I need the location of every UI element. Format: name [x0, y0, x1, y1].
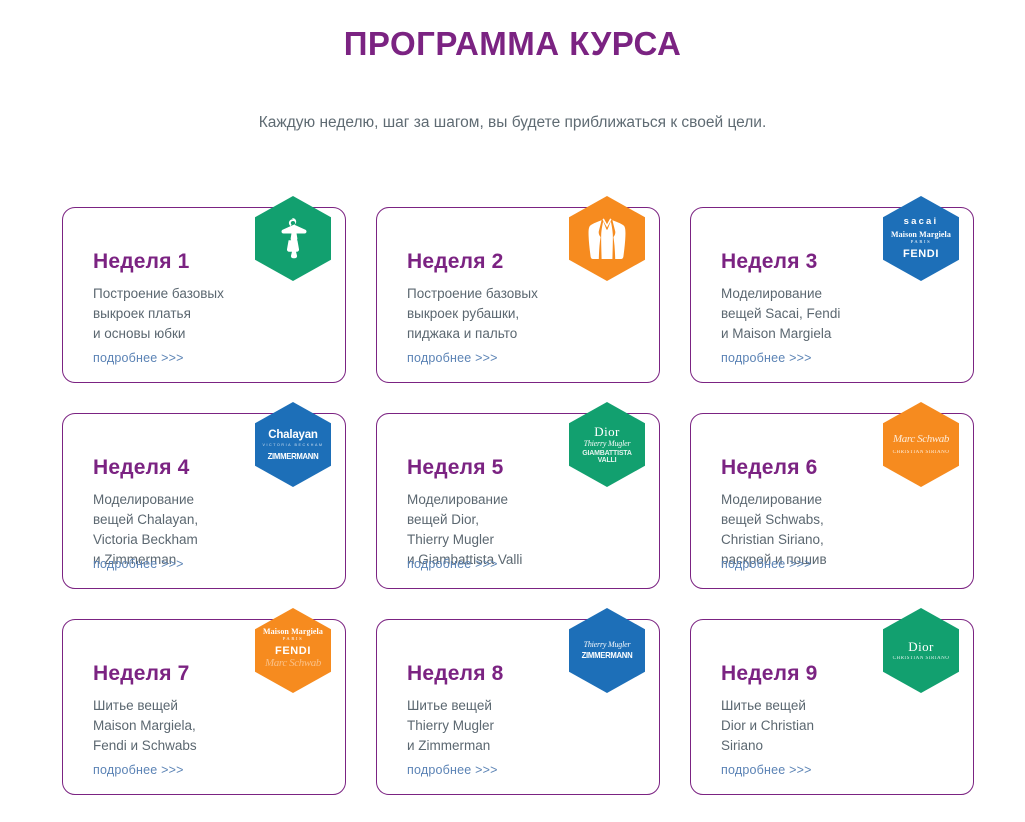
brand-fendi: FENDI: [887, 249, 955, 261]
details-link[interactable]: подробнее >>>: [407, 351, 498, 365]
brand-marc-schwab: Marc Schwab: [887, 434, 955, 446]
week-card[interactable]: Dior Thierry Mugler GIAMBATTISTA VALLI Н…: [376, 413, 660, 589]
week-description: Построение базовых выкроек платья и осно…: [93, 284, 319, 344]
brand-dior: Dior: [887, 640, 955, 654]
week-description: Построение базовых выкроек рубашки, пидж…: [407, 284, 633, 344]
details-link[interactable]: подробнее >>>: [407, 557, 498, 571]
brand-zimmermann: ZIMMERMANN: [576, 651, 639, 660]
week-card[interactable]: Неделя 2 Построение базовых выкроек руба…: [376, 207, 660, 383]
week-card[interactable]: Maison Margiela PARIS FENDI Marc Schwab …: [62, 619, 346, 795]
details-link[interactable]: подробнее >>>: [93, 557, 184, 571]
week-description: Шитье вещей Maison Margiela, Fendi и Sch…: [93, 696, 319, 756]
details-link[interactable]: подробнее >>>: [407, 763, 498, 777]
brand-maison-margiela: Maison Margiela: [887, 231, 955, 239]
brand-sacai: sacai: [887, 217, 955, 227]
details-link[interactable]: подробнее >>>: [721, 557, 812, 571]
brand-thierry-mugler: Thierry Mugler: [573, 440, 641, 448]
brand-dior: Dior: [573, 425, 641, 439]
details-link[interactable]: подробнее >>>: [721, 763, 812, 777]
week-description: Шитье вещей Dior и Christian Siriano: [721, 696, 947, 756]
details-link[interactable]: подробнее >>>: [93, 351, 184, 365]
week-card[interactable]: sacai Maison Margiela PARIS FENDI Неделя…: [690, 207, 974, 383]
dress-on-hanger-icon: [276, 217, 310, 261]
week-card[interactable]: Marc Schwab CHRISTIAN SIRIANO Неделя 6 М…: [690, 413, 974, 589]
brand-thierry-mugler: Thierry Mugler: [573, 641, 641, 649]
week-card[interactable]: Dior CHRISTIAN SIRIANO Неделя 9 Шитье ве…: [690, 619, 974, 795]
brand-paris: PARIS: [887, 240, 955, 245]
brand-marc-schwab: Marc Schwab: [259, 658, 327, 670]
brand-christian-siriano: CHRISTIAN SIRIANO: [887, 450, 955, 455]
brand-zimmermann: ZIMMERMANN: [262, 452, 325, 461]
brand-paris: PARIS: [259, 637, 327, 642]
brand-maison-margiela: Maison Margiela: [259, 628, 327, 636]
week-card[interactable]: Thierry Mugler ZIMMERMANN Неделя 8 Шитье…: [376, 619, 660, 795]
brand-giambattista-valli: GIAMBATTISTA VALLI: [573, 451, 641, 464]
week-card[interactable]: Chalayan VICTORIA BECKHAM ZIMMERMANN Нед…: [62, 413, 346, 589]
brand-chalayan: Chalayan: [259, 429, 327, 441]
week-description: Шитье вещей Thierry Mugler и Zimmerman: [407, 696, 633, 756]
week-cards-grid: Неделя 1 Построение базовых выкроек плат…: [62, 207, 982, 795]
details-link[interactable]: подробнее >>>: [93, 763, 184, 777]
blazer-jacket-icon: [586, 216, 628, 262]
brand-christian-siriano: CHRISTIAN SIRIANO: [887, 656, 955, 661]
page-subtitle: Каждую неделю, шаг за шагом, вы будете п…: [0, 64, 1025, 134]
details-link[interactable]: подробнее >>>: [721, 351, 812, 365]
page-title: ПРОГРАММА КУРСА: [0, 0, 1025, 64]
week-card[interactable]: Неделя 1 Построение базовых выкроек плат…: [62, 207, 346, 383]
brand-victoria-beckham: VICTORIA BECKHAM: [259, 444, 327, 448]
week-description: Моделирование вещей Sacai, Fendi и Maiso…: [721, 284, 947, 344]
brand-fendi: FENDI: [259, 646, 327, 658]
course-program-page: ПРОГРАММА КУРСА Каждую неделю, шаг за ша…: [0, 0, 1025, 822]
